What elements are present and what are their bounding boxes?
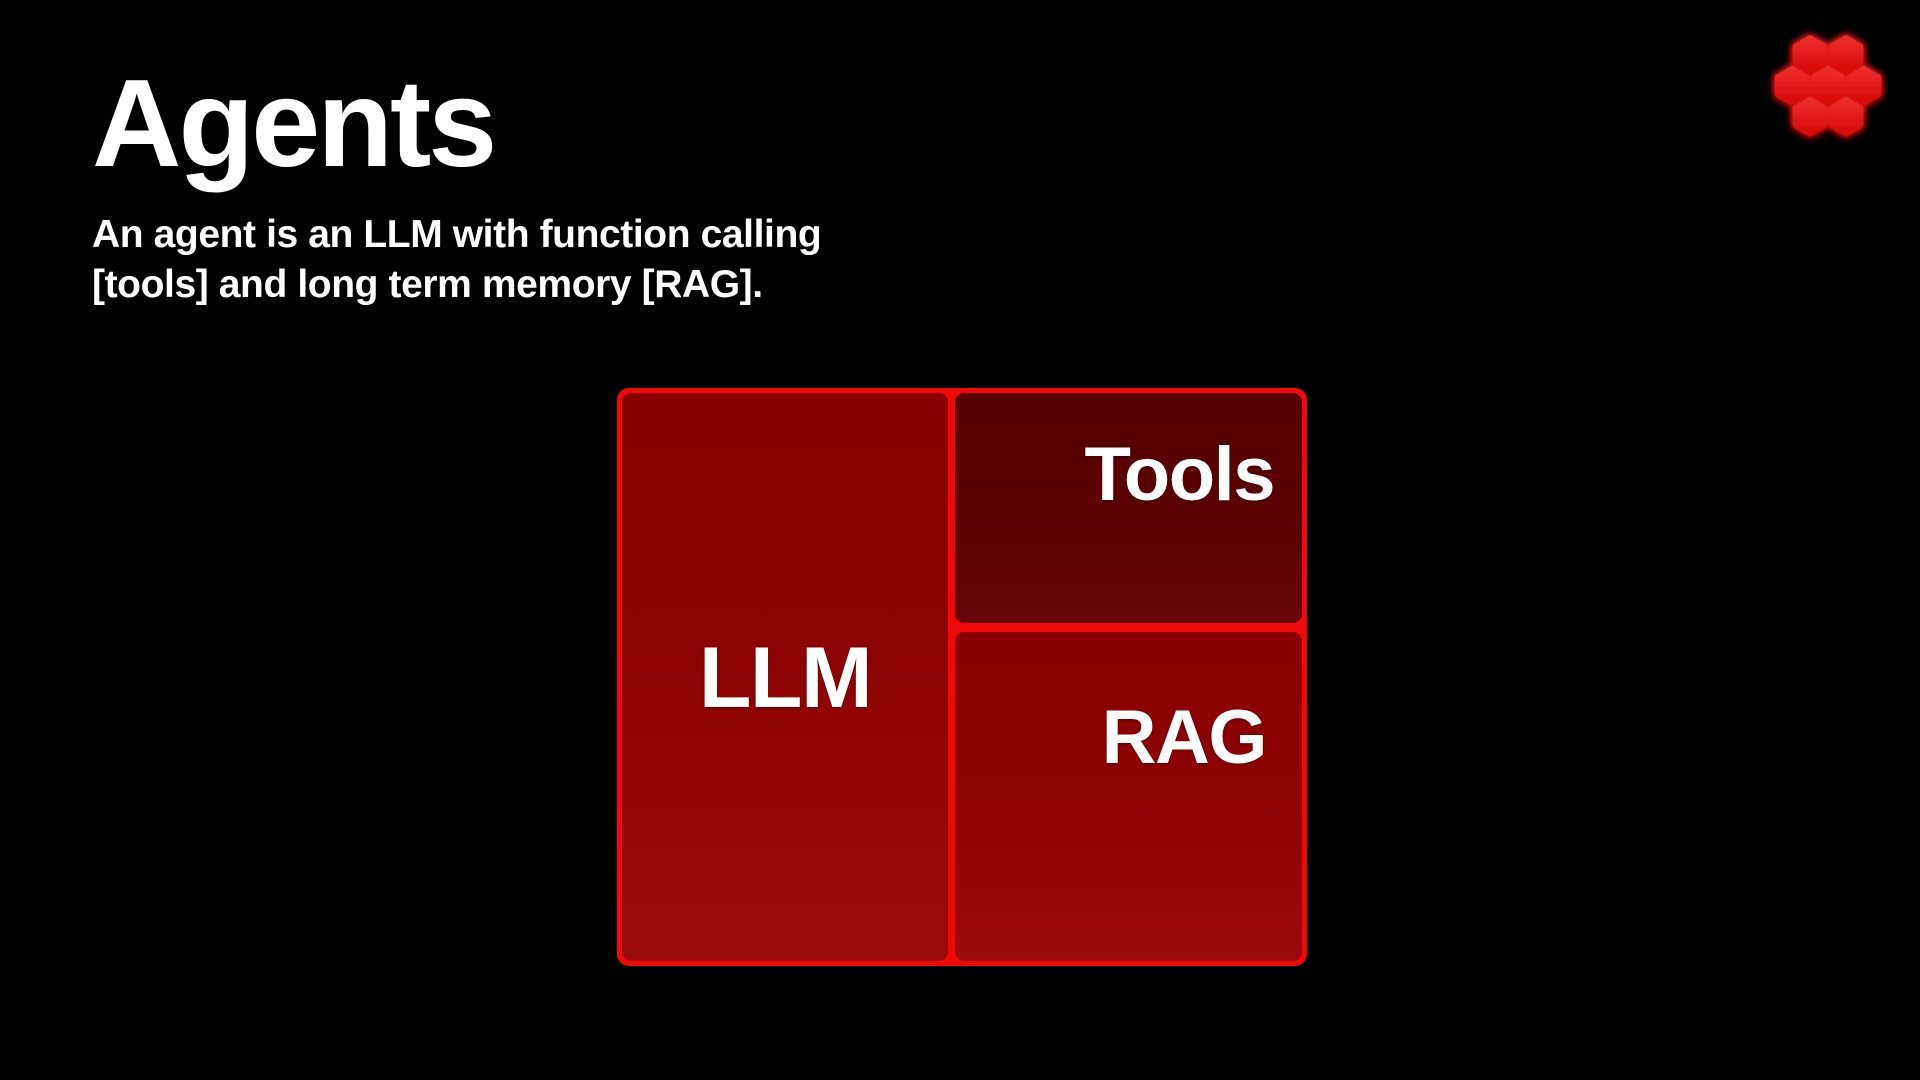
hex-bottom-right: [1829, 97, 1864, 137]
diagram-right-column: Tools RAG: [955, 393, 1302, 961]
diagram-cell-tools-label: Tools: [1084, 437, 1274, 513]
diagram-cell-rag-label: RAG: [1102, 700, 1266, 776]
hex-mid-right: [1847, 66, 1882, 106]
hex-bottom-left: [1793, 97, 1828, 137]
page-title: Agents: [92, 58, 1192, 192]
diagram-cell-llm[interactable]: LLM: [622, 393, 948, 961]
slide-canvas: Agents An agent is an LLM with function …: [0, 0, 1920, 1080]
hexagon-flower-logo: [1762, 28, 1894, 154]
title-block: Agents An agent is an LLM with function …: [92, 58, 1192, 310]
diagram-cell-llm-label: LLM: [622, 635, 948, 721]
hex-mid-left: [1775, 66, 1810, 106]
subtitle-line-2: [tools] and long term memory [RAG].: [92, 260, 1192, 310]
diagram-cell-tools[interactable]: Tools: [955, 393, 1302, 623]
hex-top-right: [1829, 35, 1864, 75]
diagram-cell-rag[interactable]: RAG: [955, 632, 1302, 961]
agent-architecture-diagram: LLM Tools RAG: [617, 388, 1307, 966]
subtitle: An agent is an LLM with function calling…: [92, 210, 1192, 310]
subtitle-line-1: An agent is an LLM with function calling: [92, 210, 1192, 260]
hex-center: [1811, 66, 1846, 106]
hex-top-left: [1793, 35, 1828, 75]
